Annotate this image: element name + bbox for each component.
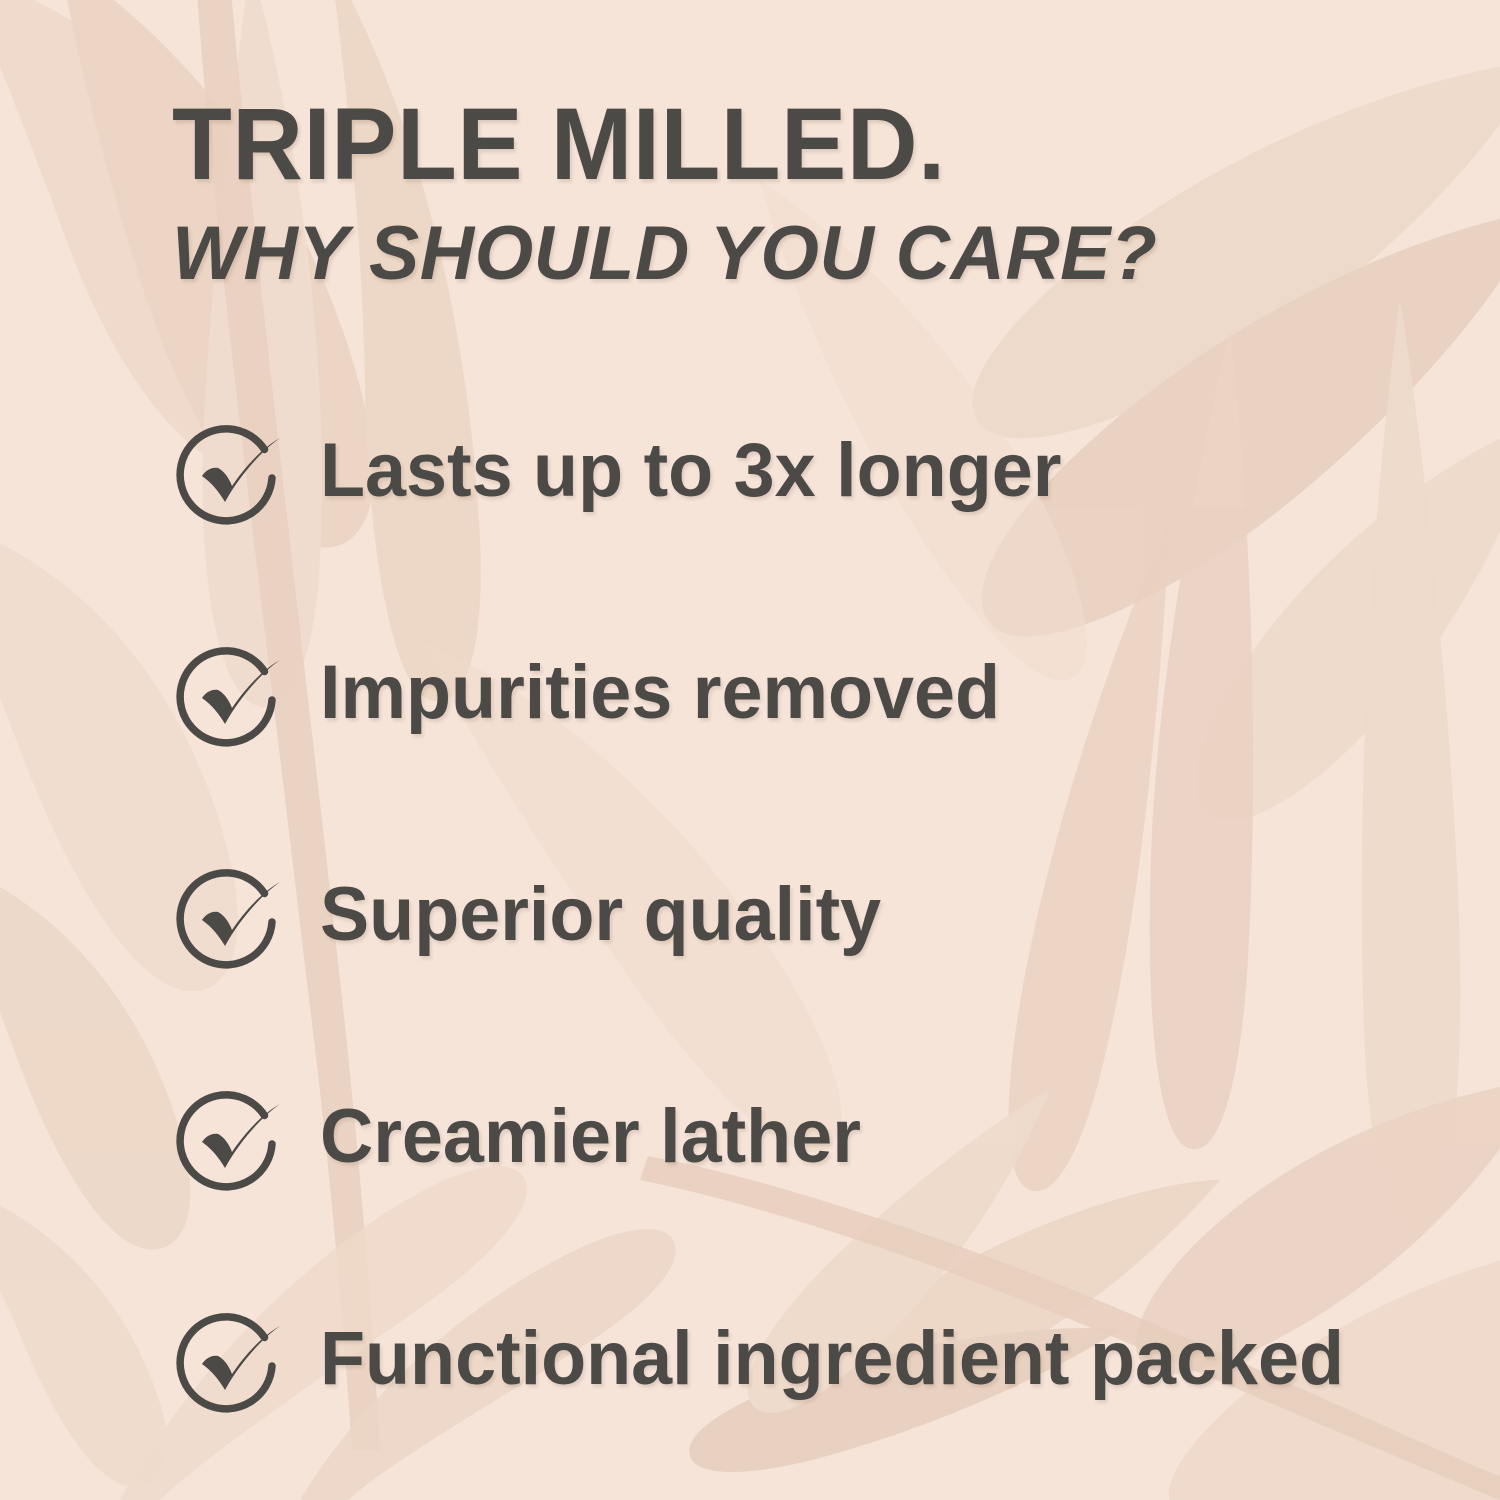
check-circle-icon xyxy=(168,638,296,766)
check-circle-icon xyxy=(168,860,296,988)
list-item-label: Creamier lather xyxy=(320,1078,861,1179)
list-item-label: Impurities removed xyxy=(320,634,1000,735)
header-block: TRIPLE MILLED. WHY SHOULD YOU CARE? xyxy=(172,96,1402,292)
page-title: TRIPLE MILLED. xyxy=(172,96,1353,194)
list-item: Creamier lather xyxy=(168,1078,1438,1210)
check-circle-icon xyxy=(168,1082,296,1210)
check-circle-icon xyxy=(168,1304,296,1432)
benefits-list: Lasts up to 3x longer Impurities removed xyxy=(168,412,1438,1432)
list-item: Impurities removed xyxy=(168,634,1438,766)
product-benefits-poster: TRIPLE MILLED. WHY SHOULD YOU CARE? Last… xyxy=(0,0,1500,1500)
check-circle-icon xyxy=(168,416,296,544)
list-item: Superior quality xyxy=(168,856,1438,988)
list-item-label: Lasts up to 3x longer xyxy=(320,412,1061,513)
list-item-label: Superior quality xyxy=(320,856,881,957)
list-item: Lasts up to 3x longer xyxy=(168,412,1438,544)
page-subtitle: WHY SHOULD YOU CARE? xyxy=(172,194,1390,292)
list-item: Functional ingredient packed xyxy=(168,1300,1438,1432)
list-item-label: Functional ingredient packed xyxy=(320,1300,1344,1401)
